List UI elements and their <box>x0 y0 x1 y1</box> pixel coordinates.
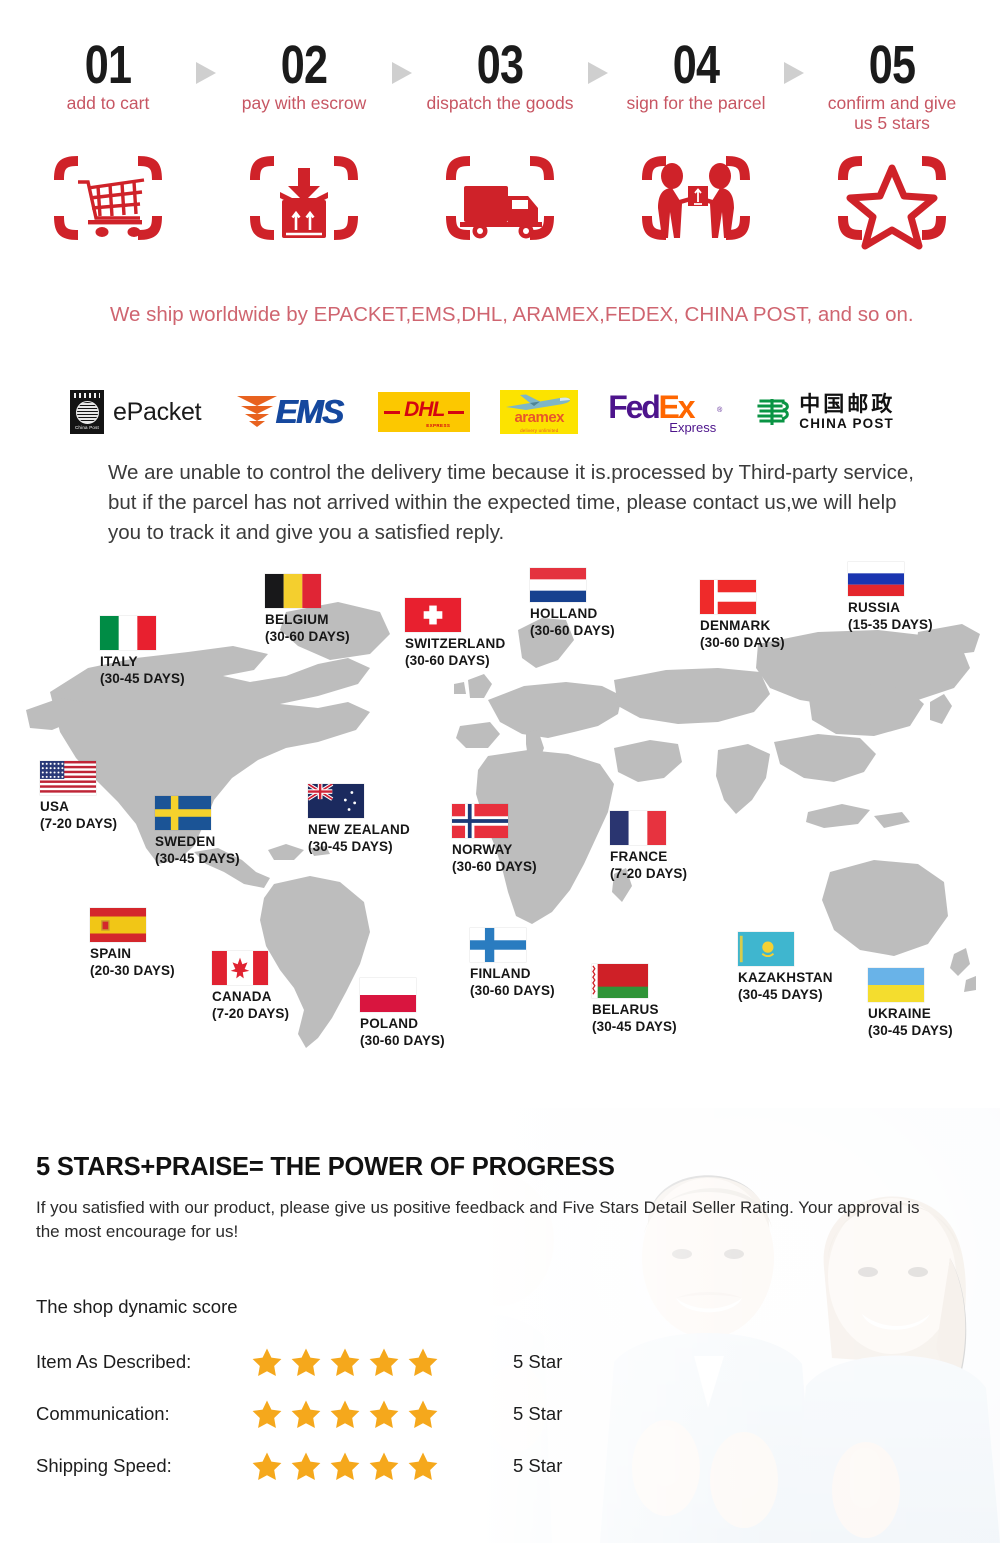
country-delivery-days: (30-60 DAYS) <box>405 652 505 669</box>
map-pin-belgium: BELGIUM(30-60 DAYS) <box>265 574 350 645</box>
step-icon-cell <box>424 140 576 255</box>
step-label: confirm and give us 5 stars <box>816 94 968 133</box>
order-step-04: 04sign for the parcel <box>620 38 772 114</box>
star-outline-icon <box>828 146 956 250</box>
flag-denmark <box>700 580 756 614</box>
country-delivery-days: (20-30 DAYS) <box>90 962 175 979</box>
flag-canada <box>212 951 268 985</box>
feedback-title: 5 STARS+PRAISE= THE POWER OF PROGRESS <box>36 1153 615 1182</box>
feedback-section: 5 STARS+PRAISE= THE POWER OF PROGRESS If… <box>0 1108 1000 1543</box>
china-post-label-cn: 中国邮政 <box>799 394 895 415</box>
step-icon-cell <box>32 140 184 255</box>
star-icon <box>329 1398 361 1430</box>
order-step-01: 01add to cart <box>32 38 184 114</box>
dhl-label: DHL <box>404 398 444 422</box>
flag-finland <box>470 928 526 962</box>
star-icon <box>329 1450 361 1482</box>
aramex-label: aramex <box>500 409 578 426</box>
star-icon <box>290 1450 322 1482</box>
country-name: BELGIUM <box>265 611 350 628</box>
shipping-info-page: 01add to cart02pay with escrow03dispatch… <box>0 0 1000 1543</box>
country-delivery-days: (7-20 DAYS) <box>212 1005 289 1022</box>
country-name: SPAIN <box>90 945 175 962</box>
country-delivery-days: (30-60 DAYS) <box>360 1032 445 1049</box>
step-number: 01 <box>47 38 169 93</box>
china-post-logo: 中国邮政 CHINA POST <box>756 387 895 437</box>
china-post-mark-icon <box>756 396 792 428</box>
country-delivery-days: (30-60 DAYS) <box>470 982 555 999</box>
star-icon <box>368 1346 400 1378</box>
country-delivery-days: (15-35 DAYS) <box>848 616 933 633</box>
china-post-label-en: CHINA POST <box>799 417 895 431</box>
star-icon <box>290 1398 322 1430</box>
package-download-icon <box>240 146 368 250</box>
country-name: FINLAND <box>470 965 555 982</box>
country-delivery-days: (30-45 DAYS) <box>592 1018 677 1035</box>
dhl-badge: DHL EXPRESS <box>378 392 470 432</box>
star-icon <box>368 1450 400 1482</box>
country-delivery-days: (30-45 DAYS) <box>738 986 833 1003</box>
aramex-logo: aramex delivery unlimited <box>500 387 578 437</box>
map-pin-sweden: SWEDEN(30-45 DAYS) <box>155 796 240 867</box>
step-icon-cell <box>620 140 772 255</box>
delivery-time-notice: We are unable to control the delivery ti… <box>108 458 928 548</box>
country-name: HOLLAND <box>530 605 615 622</box>
star-icon <box>290 1346 322 1378</box>
map-pin-finland: FINLAND(30-60 DAYS) <box>470 928 555 999</box>
step-arrow-icon <box>576 38 620 86</box>
star-icon <box>368 1398 400 1430</box>
country-name: KAZAKHSTAN <box>738 969 833 986</box>
flag-norway <box>452 804 508 838</box>
order-step-05: 05confirm and give us 5 stars <box>816 38 968 133</box>
delivery-truck-icon <box>436 146 564 250</box>
epacket-badge-icon: China Post <box>70 390 104 434</box>
star-icon <box>407 1398 439 1430</box>
step-number: 02 <box>243 38 365 93</box>
country-name: UKRAINE <box>868 1005 953 1022</box>
flag-france <box>610 811 666 845</box>
country-delivery-days: (30-60 DAYS) <box>452 858 537 875</box>
map-pin-russia: RUSSIA(15-35 DAYS) <box>848 562 933 633</box>
map-pin-kazakhstan: KAZAKHSTAN(30-45 DAYS) <box>738 932 833 1003</box>
country-name: CANADA <box>212 988 289 1005</box>
country-name: POLAND <box>360 1015 445 1032</box>
fedex-registered-mark: ® <box>717 407 722 414</box>
map-pin-ukraine: UKRAINE(30-45 DAYS) <box>868 968 953 1039</box>
map-pin-spain: SPAIN(20-30 DAYS) <box>90 908 175 979</box>
shop-rating-rows: Item As Described:5 StarCommunication:5 … <box>36 1336 636 1492</box>
step-number: 04 <box>635 38 757 93</box>
fedex-wordmark: FedEx <box>608 391 693 423</box>
flag-usa <box>40 761 96 795</box>
rating-value: 5 Star <box>513 1351 562 1373</box>
shop-dynamic-score-label: The shop dynamic score <box>36 1296 238 1318</box>
star-icon <box>407 1450 439 1482</box>
step-number: 03 <box>439 38 561 93</box>
order-steps-section: 01add to cart02pay with escrow03dispatch… <box>0 38 1000 138</box>
world-shipping-map: ITALY(30-45 DAYS)BELGIUM(30-60 DAYS)SWIT… <box>0 556 1000 1086</box>
rating-label: Shipping Speed: <box>36 1455 251 1477</box>
rating-row: Shipping Speed:5 Star <box>36 1440 636 1492</box>
rating-label: Communication: <box>36 1403 251 1425</box>
rating-value: 5 Star <box>513 1455 562 1477</box>
rating-label: Item As Described: <box>36 1351 251 1373</box>
country-delivery-days: (30-60 DAYS) <box>265 628 350 645</box>
map-pin-usa: USA(7-20 DAYS) <box>40 761 117 832</box>
aramex-badge: aramex delivery unlimited <box>500 390 578 434</box>
country-delivery-days: (30-60 DAYS) <box>530 622 615 639</box>
country-delivery-days: (30-45 DAYS) <box>155 850 240 867</box>
parcel-handover-icon <box>632 146 760 250</box>
country-name: BELARUS <box>592 1001 677 1018</box>
country-name: RUSSIA <box>848 599 933 616</box>
star-icon <box>251 1398 283 1430</box>
step-icon-cell <box>228 140 380 255</box>
star-icon <box>329 1346 361 1378</box>
rating-stars <box>251 1346 501 1378</box>
country-delivery-days: (30-45 DAYS) <box>308 838 410 855</box>
step-arrow-icon <box>184 38 228 86</box>
step-label: add to cart <box>32 94 184 114</box>
fedex-logo: FedEx ® Express <box>608 387 720 437</box>
map-pin-france: FRANCE(7-20 DAYS) <box>610 811 687 882</box>
flag-italy <box>100 616 156 650</box>
flag-poland <box>360 978 416 1012</box>
country-name: NORWAY <box>452 841 537 858</box>
rating-row: Item As Described:5 Star <box>36 1336 636 1388</box>
step-number: 05 <box>831 38 953 93</box>
flag-switzerland <box>405 598 461 632</box>
map-pin-belarus: BELARUS(30-45 DAYS) <box>592 964 677 1035</box>
map-pin-norway: NORWAY(30-60 DAYS) <box>452 804 537 875</box>
star-icon <box>251 1346 283 1378</box>
country-delivery-days: (7-20 DAYS) <box>610 865 687 882</box>
dhl-dash-right <box>448 411 464 414</box>
step-arrow-icon <box>772 38 816 86</box>
country-name: DENMARK <box>700 617 785 634</box>
country-name: SWEDEN <box>155 833 240 850</box>
rating-value: 5 Star <box>513 1403 562 1425</box>
fedex-sublabel: Express <box>669 420 716 435</box>
epacket-badge-foot: China Post <box>73 424 101 432</box>
order-steps-row: 01add to cart02pay with escrow03dispatch… <box>0 38 1000 133</box>
country-name: ITALY <box>100 653 185 670</box>
fedex-fed: Fed <box>608 389 658 425</box>
country-delivery-days: (7-20 DAYS) <box>40 815 117 832</box>
feedback-subtitle: If you satisfied with our product, pleas… <box>36 1196 926 1244</box>
map-pin-canada: CANADA(7-20 DAYS) <box>212 951 289 1022</box>
country-name: SWITZERLAND <box>405 635 505 652</box>
shopping-cart-icon <box>44 146 172 250</box>
flag-newzealand <box>308 784 364 818</box>
rating-stars <box>251 1398 501 1430</box>
carrier-logos-row: China Post ePacket EMS DHL EXPRESS <box>70 383 950 441</box>
flag-spain <box>90 908 146 942</box>
order-steps-icon-row <box>0 140 1000 255</box>
star-icon <box>251 1450 283 1482</box>
country-delivery-days: (30-60 DAYS) <box>700 634 785 651</box>
country-name: NEW ZEALAND <box>308 821 410 838</box>
ems-chevron-icon <box>237 394 277 430</box>
flag-kazakhstan <box>738 932 794 966</box>
order-step-03: 03dispatch the goods <box>424 38 576 114</box>
globe-icon <box>76 401 99 424</box>
country-delivery-days: (30-45 DAYS) <box>868 1022 953 1039</box>
epacket-label: ePacket <box>113 398 201 427</box>
step-label: dispatch the goods <box>424 94 576 114</box>
map-pin-switzerland: SWITZERLAND(30-60 DAYS) <box>405 598 505 669</box>
country-name: USA <box>40 798 117 815</box>
flag-belgium <box>265 574 321 608</box>
map-pin-denmark: DENMARK(30-60 DAYS) <box>700 580 785 651</box>
epacket-ticks <box>74 393 100 398</box>
flag-belarus <box>592 964 648 998</box>
map-pin-new-zealand: NEW ZEALAND(30-45 DAYS) <box>308 784 410 855</box>
map-pin-italy: ITALY(30-45 DAYS) <box>100 616 185 687</box>
step-label: pay with escrow <box>228 94 380 114</box>
ems-label: EMS <box>275 393 342 431</box>
ems-logo: EMS <box>237 387 342 437</box>
step-arrow-icon <box>380 38 424 86</box>
worldwide-shipping-text: We ship worldwide by EPACKET,EMS,DHL, AR… <box>110 300 930 329</box>
flag-russia <box>848 562 904 596</box>
map-pin-poland: POLAND(30-60 DAYS) <box>360 978 445 1049</box>
epacket-logo: China Post ePacket <box>70 387 201 437</box>
dhl-dash-left <box>384 411 400 414</box>
star-icon <box>407 1346 439 1378</box>
flag-ukraine <box>868 968 924 1002</box>
step-icon-cell <box>816 140 968 255</box>
map-pin-holland: HOLLAND(30-60 DAYS) <box>530 568 615 639</box>
country-delivery-days: (30-45 DAYS) <box>100 670 185 687</box>
rating-stars <box>251 1450 501 1482</box>
dhl-sublabel: EXPRESS <box>426 423 450 428</box>
flag-sweden <box>155 796 211 830</box>
order-step-02: 02pay with escrow <box>228 38 380 114</box>
aramex-sublabel: delivery unlimited <box>500 428 578 433</box>
flag-holland <box>530 568 586 602</box>
step-label: sign for the parcel <box>620 94 772 114</box>
dhl-logo: DHL EXPRESS <box>378 387 470 437</box>
rating-row: Communication:5 Star <box>36 1388 636 1440</box>
country-name: FRANCE <box>610 848 687 865</box>
